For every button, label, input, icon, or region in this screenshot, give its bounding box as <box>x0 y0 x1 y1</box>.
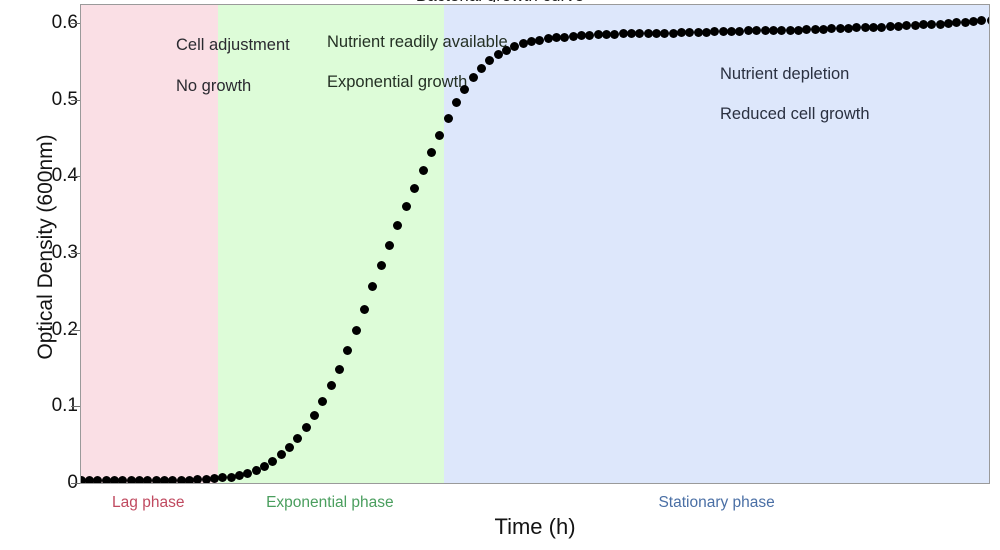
data-point <box>377 261 386 270</box>
data-point <box>310 411 319 420</box>
data-point <box>277 450 286 459</box>
y-tick-mark <box>71 330 80 331</box>
annotation-text: No growth <box>176 77 251 96</box>
annotation-text: Nutrient readily available <box>327 33 508 52</box>
data-point <box>444 114 453 123</box>
data-point <box>987 16 991 25</box>
y-tick-mark <box>71 253 80 254</box>
y-tick-label: 0.4 <box>18 165 78 187</box>
phase-caption-lag: Lag phase <box>112 494 184 512</box>
y-tick-mark <box>71 406 80 407</box>
annotation-text: Exponential growth <box>327 73 467 92</box>
y-tick-label: 0.3 <box>18 242 78 264</box>
y-tick-mark <box>71 483 80 484</box>
data-point <box>118 476 127 484</box>
data-point <box>460 85 469 94</box>
phase-band-stationary <box>444 5 990 483</box>
y-tick-label: 0.1 <box>18 395 78 417</box>
phase-caption-exponential: Exponential phase <box>266 494 394 512</box>
phase-caption-stationary: Stationary phase <box>658 494 774 512</box>
data-point <box>285 443 294 452</box>
data-point <box>302 423 311 432</box>
y-tick-mark <box>71 176 80 177</box>
y-tick-label: 0.5 <box>18 89 78 111</box>
annotation-text: Nutrient depletion <box>720 65 849 84</box>
growth-curve-figure: Bacterial growth curve Optical Density (… <box>0 0 1000 550</box>
y-tick-label: 0.6 <box>18 12 78 34</box>
data-point <box>268 457 277 466</box>
data-point <box>402 202 411 211</box>
data-point <box>560 33 569 42</box>
data-point <box>469 73 478 82</box>
chart-title: Bacterial growth curve <box>0 0 1000 2</box>
x-axis-title: Time (h) <box>80 514 990 540</box>
annotation-text: Reduced cell growth <box>720 105 870 124</box>
data-point <box>410 184 419 193</box>
data-point <box>293 434 302 443</box>
data-point <box>93 476 102 484</box>
data-point <box>927 20 936 29</box>
data-point <box>777 26 786 35</box>
plot-area: Cell adjustmentNo growthNutrient readily… <box>80 4 990 484</box>
data-point <box>143 476 152 484</box>
data-point <box>510 42 519 51</box>
data-point <box>535 36 544 45</box>
data-point <box>352 326 361 335</box>
y-tick-mark <box>71 23 80 24</box>
data-point <box>419 166 428 175</box>
data-point <box>435 131 444 140</box>
data-point <box>168 476 177 484</box>
data-point <box>335 365 344 374</box>
data-point <box>360 305 369 314</box>
y-tick-label: 0 <box>18 472 78 494</box>
y-tick-mark <box>71 100 80 101</box>
data-point <box>877 23 886 32</box>
y-tick-label: 0.2 <box>18 319 78 341</box>
annotation-text: Cell adjustment <box>176 36 290 55</box>
data-point <box>477 64 486 73</box>
